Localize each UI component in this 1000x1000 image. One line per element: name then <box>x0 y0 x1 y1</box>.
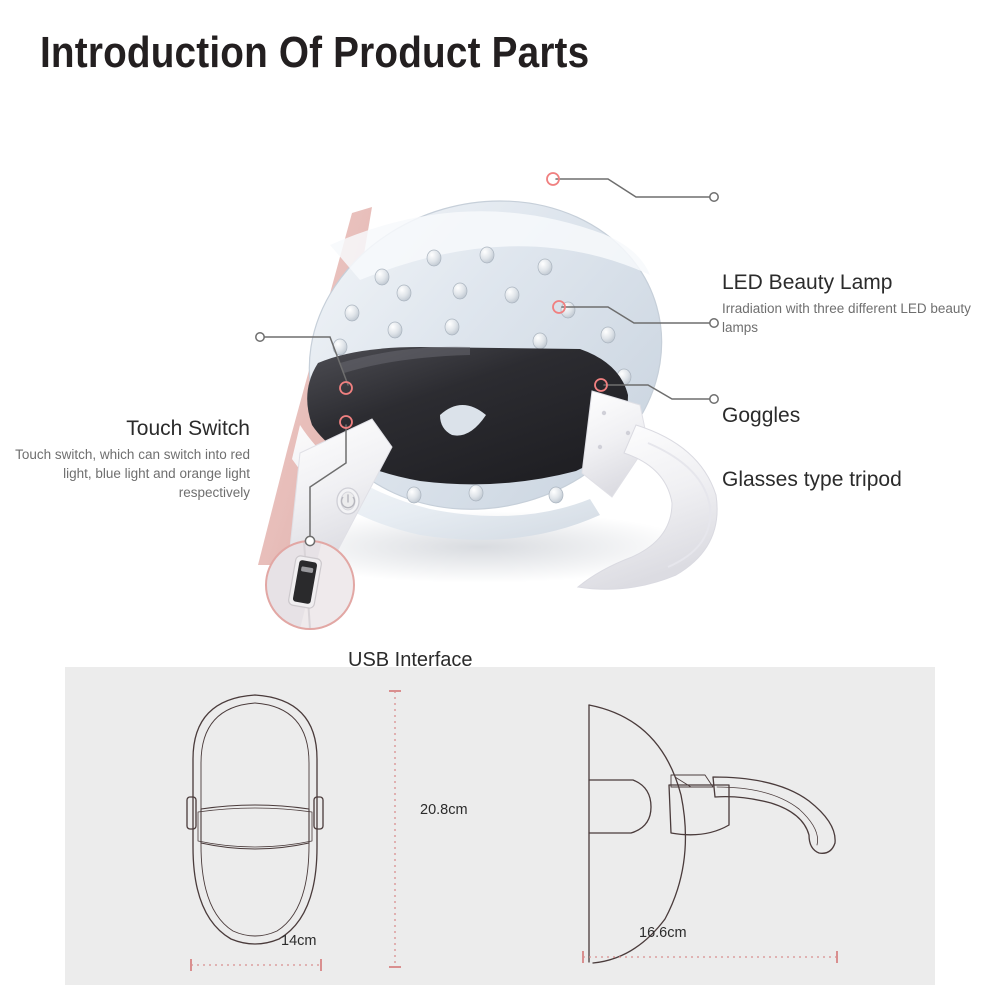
dimension-drawings <box>65 667 935 985</box>
dimension-height-label: 20.8cm <box>420 802 468 818</box>
callout-led-beauty-lamp: LED Beauty Lamp Irradiation with three d… <box>722 270 987 337</box>
page-title: Introduction Of Product Parts <box>40 28 589 78</box>
callout-title: LED Beauty Lamp <box>722 270 987 296</box>
leader-led <box>556 179 712 197</box>
dimension-depth-label: 16.6cm <box>639 925 687 941</box>
callout-description: Irradiation with three different LED bea… <box>722 299 987 337</box>
front-view-drawing <box>187 695 323 944</box>
product-parts-infographic: Introduction Of Product Parts <box>0 0 1000 1000</box>
callout-goggles: Goggles <box>722 403 972 429</box>
callout-title: Glasses type tripod <box>722 467 982 493</box>
product-photo-area: LED Beauty Lamp Irradiation with three d… <box>0 95 1000 655</box>
product-illustration <box>0 95 1000 655</box>
callout-description: Touch switch, which can switch into red … <box>8 445 250 502</box>
callout-title: Goggles <box>722 403 972 429</box>
side-view-drawing <box>589 705 835 963</box>
dimensions-panel: 20.8cm 14cm 16.6cm <box>65 667 935 985</box>
touch-switch-button[interactable] <box>337 488 359 514</box>
callout-title: Touch Switch <box>8 416 250 442</box>
callout-glasses-type-tripod: Glasses type tripod <box>722 467 982 493</box>
dimension-lines <box>191 691 837 971</box>
usb-magnifier-inset <box>266 541 354 629</box>
callout-touch-switch: Touch Switch Touch switch, which can swi… <box>8 416 250 502</box>
dimension-width-label: 14cm <box>281 933 316 949</box>
